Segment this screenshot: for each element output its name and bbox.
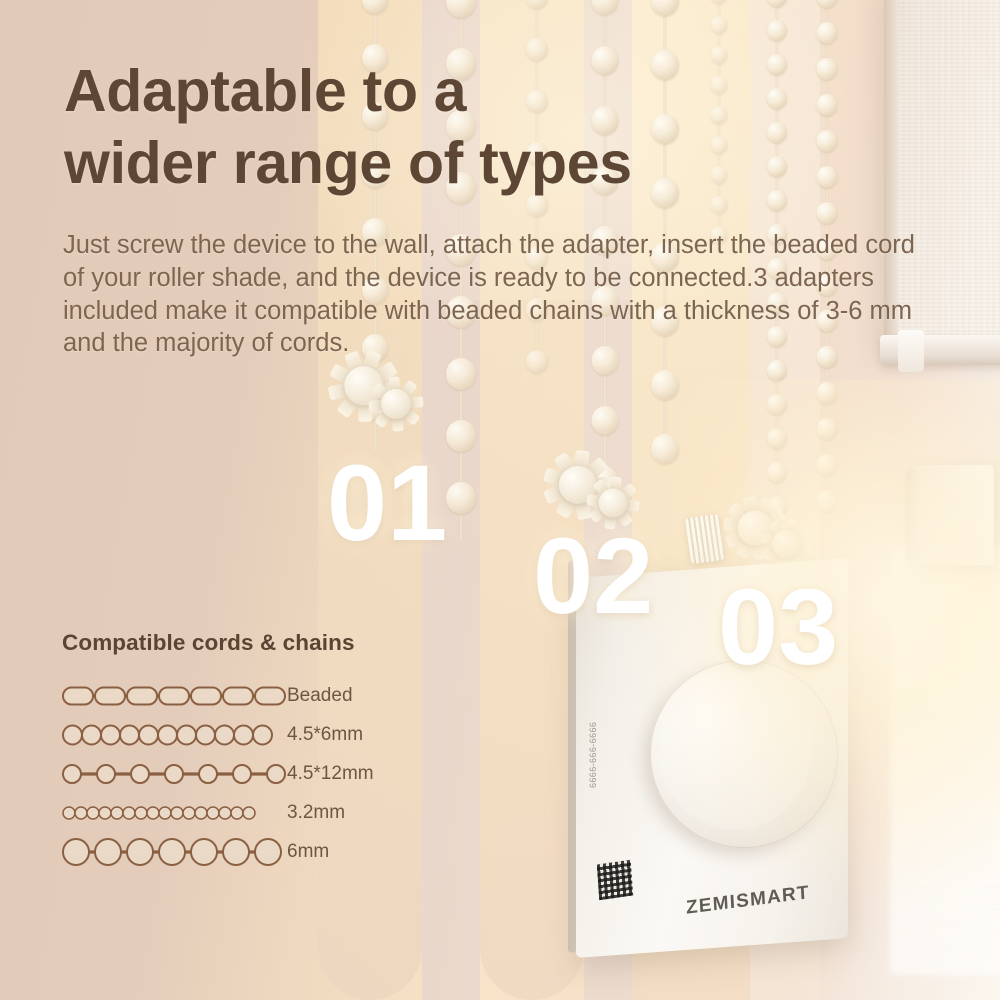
- chain-bead: [817, 202, 838, 224]
- compatibility-title: Compatible cords & chains: [62, 630, 482, 656]
- chain-bead: [767, 360, 787, 381]
- chain-bead: [711, 136, 728, 154]
- page-title: Adaptable to a wider range of types: [64, 56, 632, 200]
- chain-bead: [446, 0, 476, 18]
- chain-bead: [817, 22, 838, 44]
- chain-bead: [526, 0, 548, 9]
- round-bead-chain-icon: [62, 720, 287, 750]
- chain-bead: [651, 50, 679, 80]
- chain-bead: [711, 76, 728, 94]
- chain-bead: [767, 20, 787, 41]
- chain-bead: [767, 462, 787, 483]
- lamp-light-beam: [890, 545, 1000, 975]
- device-serial-number: 6666-666-6666: [588, 668, 598, 788]
- chain-bead: [767, 88, 787, 109]
- chain-bead: [651, 434, 679, 464]
- chain-bead: [817, 382, 838, 404]
- chain-bead: [817, 94, 838, 116]
- chain-bead: [817, 454, 838, 476]
- chain-bead: [817, 418, 838, 440]
- qr-code-icon: [597, 860, 633, 901]
- chain-bead: [362, 0, 388, 14]
- chain-bead: [767, 190, 787, 211]
- chain-bead: [711, 166, 728, 184]
- chain-bead: [651, 0, 679, 16]
- compatibility-row-label: 4.5*6mm: [287, 724, 363, 746]
- oval-bead-chain-icon: [62, 681, 287, 711]
- chain-bead: [817, 130, 838, 152]
- spaced-bead-chain-icon: [62, 759, 287, 789]
- product-marketing-image: 6666-666-6666 ZEMISMART Adaptable to a w…: [0, 0, 1000, 1000]
- compatibility-row: 4.5*12mm: [62, 754, 482, 793]
- bead-chain: [648, 0, 682, 450]
- chain-bead: [711, 196, 728, 214]
- compatibility-rows: Beaded4.5*6mm4.5*12mm3.2mm6mm: [62, 676, 482, 871]
- chain-bead: [592, 0, 619, 15]
- step-number-01: 01: [327, 440, 447, 565]
- headline-line-1: Adaptable to a: [64, 58, 466, 124]
- gear-adapter-icon: [370, 378, 422, 430]
- chain-bead: [711, 16, 728, 34]
- compatibility-section: Compatible cords & chains Beaded4.5*6mm4…: [62, 630, 482, 871]
- chain-bead: [817, 166, 838, 188]
- chain-bead: [767, 122, 787, 143]
- chain-bead: [767, 156, 787, 177]
- compatibility-row: 4.5*6mm: [62, 715, 482, 754]
- chain-bead: [446, 482, 476, 514]
- step-number-03: 03: [718, 564, 838, 689]
- chain-bead: [446, 420, 476, 452]
- compatibility-row-label: 3.2mm: [287, 802, 345, 824]
- chain-bead: [767, 394, 787, 415]
- gear-hub: [772, 530, 800, 558]
- large-bead-chain-icon: [62, 837, 287, 867]
- chain-bead: [651, 114, 679, 144]
- compatibility-row-label: 4.5*12mm: [287, 763, 374, 785]
- compatibility-row-label: Beaded: [287, 685, 353, 707]
- chain-bead: [651, 370, 679, 400]
- chain-bead: [711, 46, 728, 64]
- chain-bead: [767, 428, 787, 449]
- compatibility-row: 6mm: [62, 832, 482, 871]
- ribbed-sleeve-adapter: [685, 514, 725, 564]
- chain-bead: [817, 0, 838, 8]
- chain-bead: [711, 106, 728, 124]
- compatibility-row: Beaded: [62, 676, 482, 715]
- chain-bead: [817, 58, 838, 80]
- chain-bead: [651, 178, 679, 208]
- fine-bead-chain-icon: [62, 798, 287, 828]
- chain-bead: [711, 0, 728, 4]
- chain-bead: [592, 406, 619, 435]
- bead-chain: [702, 0, 736, 230]
- chain-bead: [767, 54, 787, 75]
- body-description: Just screw the device to the wall, attac…: [63, 229, 925, 360]
- chain-bead: [817, 490, 838, 512]
- wall-sconce-lamp: [912, 465, 994, 565]
- chain-bead: [767, 0, 787, 7]
- compatibility-row: 3.2mm: [62, 793, 482, 832]
- compatibility-row-label: 6mm: [287, 841, 329, 863]
- chain-bead: [446, 358, 476, 390]
- headline-line-2: wider range of types: [64, 130, 632, 196]
- step-number-02: 02: [533, 513, 653, 638]
